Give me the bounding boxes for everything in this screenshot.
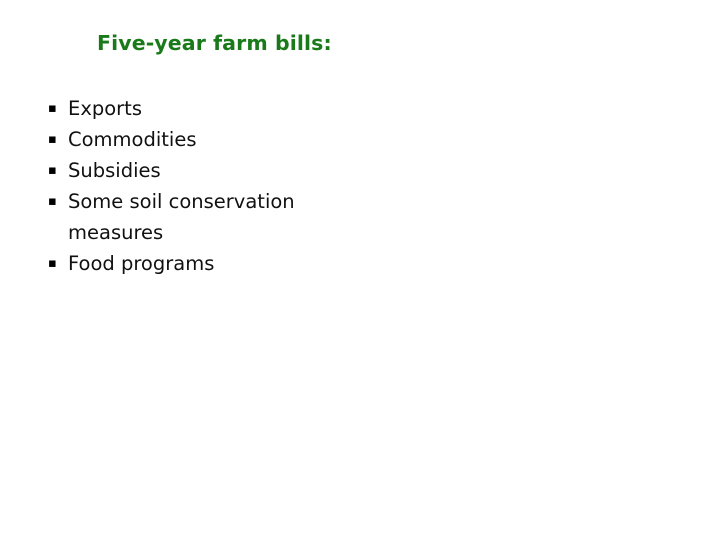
square-bullet-icon: ▪ xyxy=(48,186,57,217)
list-item: ▪ Subsidies xyxy=(48,155,348,186)
list-item: ▪ Commodities xyxy=(48,124,348,155)
list-item-label: Commodities xyxy=(68,124,348,155)
square-bullet-icon: ▪ xyxy=(48,155,57,186)
list-item-label: Exports xyxy=(68,93,348,124)
square-bullet-icon: ▪ xyxy=(48,124,57,155)
list-item: ▪ Food programs xyxy=(48,248,348,279)
square-bullet-icon: ▪ xyxy=(48,248,57,279)
list-item-label: Food programs xyxy=(68,248,348,279)
list-item: ▪ Exports xyxy=(48,93,348,124)
square-bullet-icon: ▪ xyxy=(48,93,57,124)
left-bullet-list: ▪ Exports ▪ Commodities ▪ Subsidies ▪ So… xyxy=(48,93,348,279)
list-item: ▪ Some soil conservation measures xyxy=(48,186,348,248)
list-item-label: Some soil conservation measures xyxy=(68,186,348,248)
left-column-heading: Five-year farm bills: xyxy=(97,31,332,55)
list-item-label: Subsidies xyxy=(68,155,348,186)
slide-canvas: Five-year farm bills: ▪ Exports ▪ Commod… xyxy=(0,0,720,540)
